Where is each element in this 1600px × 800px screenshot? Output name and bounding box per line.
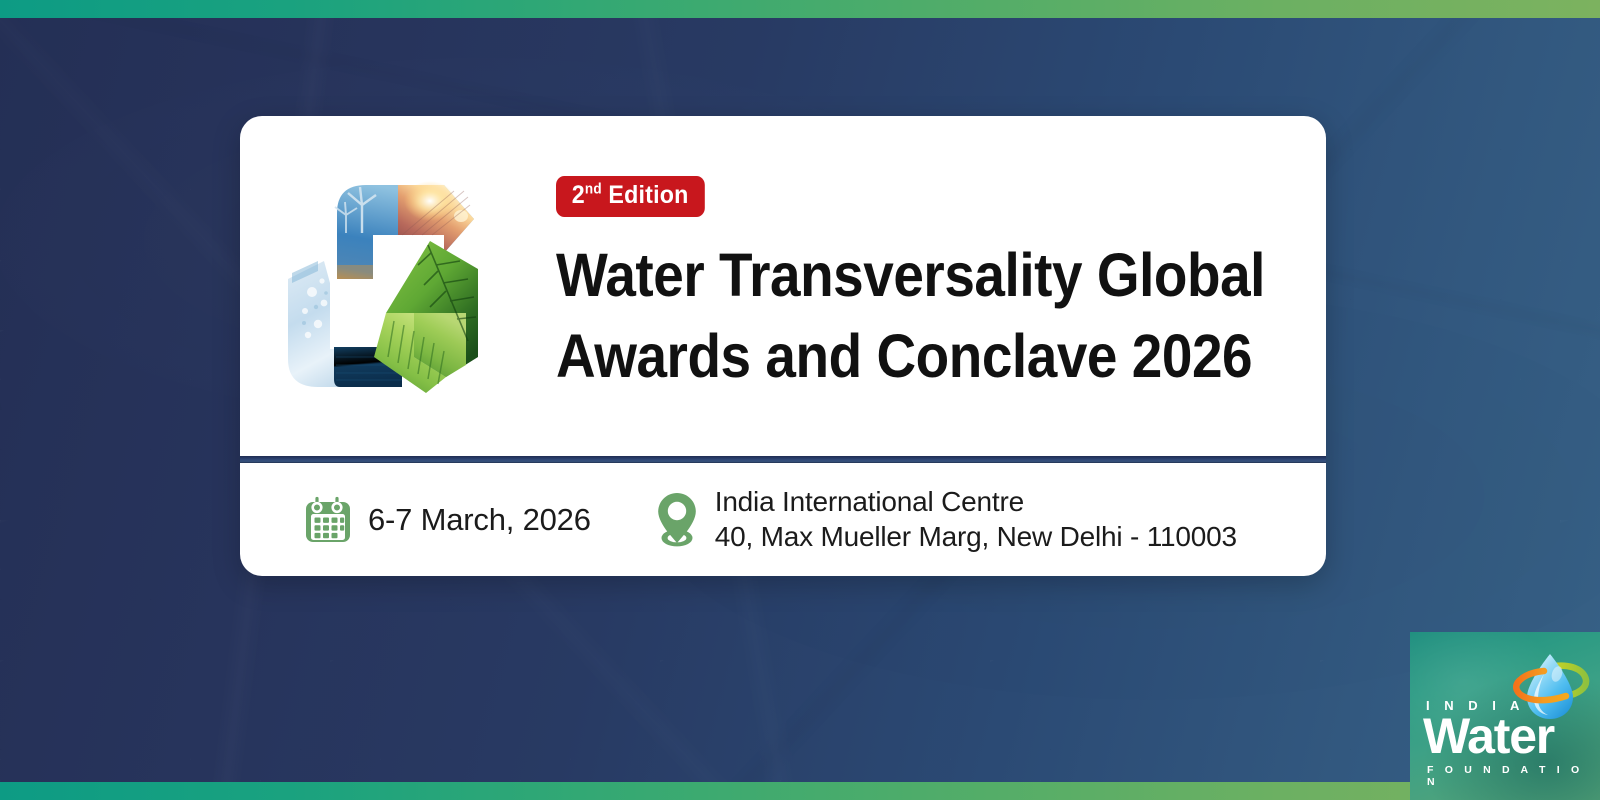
edition-ordinal: 2	[572, 181, 585, 209]
edition-label: Edition	[602, 181, 689, 209]
event-venue-text: India International Centre 40, Max Muell…	[715, 485, 1237, 553]
india-water-foundation-logo: I N D I A Water F O U N D A T I O N	[1410, 632, 1600, 800]
event-venue-line-1: India International Centre	[715, 485, 1237, 519]
card-header-region: 2nd Edition Water Transversality Global …	[240, 116, 1326, 456]
card-info-bar: 6-7 March, 2026 India International Cent…	[240, 463, 1326, 576]
title-block: 2nd Edition Water Transversality Global …	[528, 176, 1326, 396]
event-venue-item: India International Centre 40, Max Muell…	[653, 485, 1237, 553]
page-title-line-1: Water Transversality Global	[556, 235, 1265, 316]
page-title-line-2: Awards and Conclave 2026	[556, 316, 1265, 397]
bottom-accent-strip	[0, 782, 1600, 800]
edition-badge: 2nd Edition	[556, 176, 704, 217]
card-divider	[240, 456, 1326, 463]
logo-line-foundation: F O U N D A T I O N	[1427, 764, 1588, 788]
location-pin-icon	[653, 489, 701, 551]
event-banner: 2nd Edition Water Transversality Global …	[0, 0, 1600, 800]
page-title: Water Transversality Global Awards and C…	[556, 235, 1265, 396]
calendar-icon	[302, 494, 354, 546]
edition-ordinal-suffix: nd	[585, 182, 602, 198]
event-date-item: 6-7 March, 2026	[302, 494, 591, 546]
event-date-text: 6-7 March, 2026	[368, 501, 591, 539]
top-accent-strip	[0, 0, 1600, 18]
recycle-triangle-emblem	[278, 161, 528, 411]
event-venue-line-2: 40, Max Mueller Marg, New Delhi - 110003	[715, 520, 1237, 554]
logo-wordmark: I N D I A Water F O U N D A T I O N	[1410, 632, 1600, 800]
event-card: 2nd Edition Water Transversality Global …	[240, 116, 1326, 576]
logo-line-water: Water	[1423, 711, 1588, 762]
